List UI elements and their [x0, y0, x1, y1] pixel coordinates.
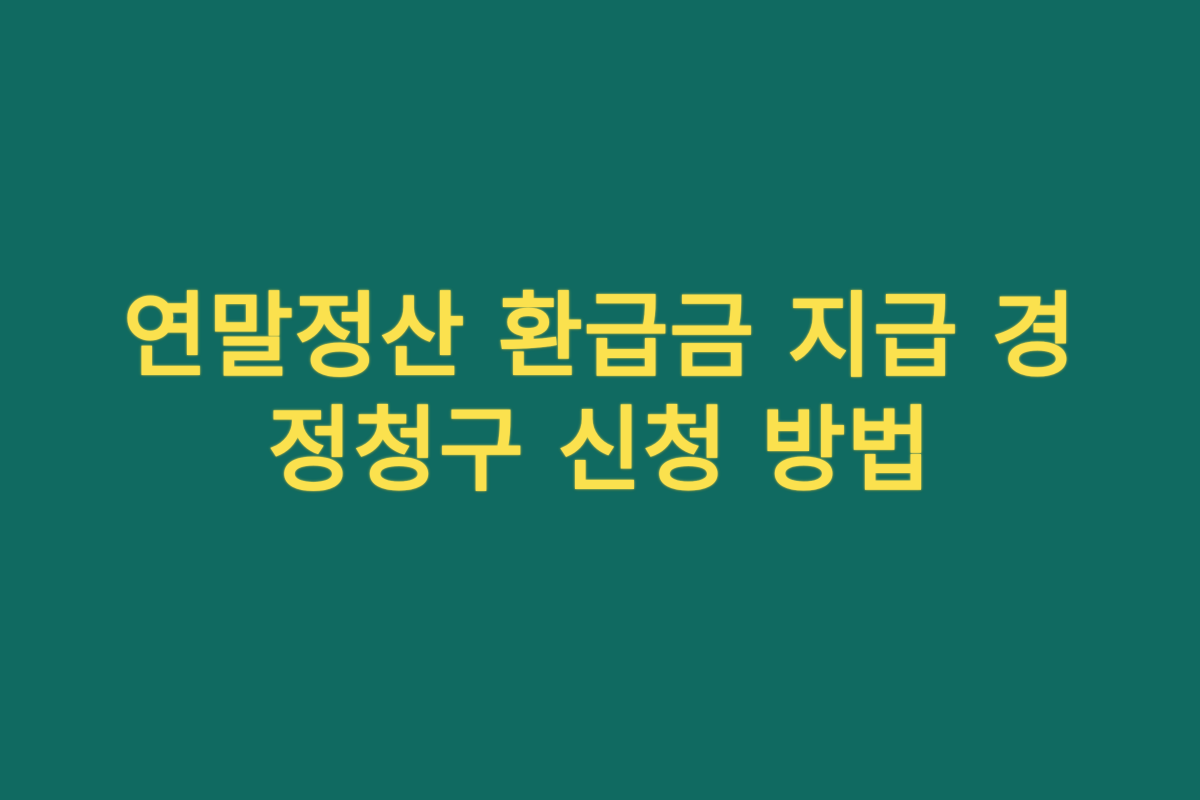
headline-line-2: 정청구 신청 방법 [70, 398, 1130, 506]
headline-line-1: 연말정산 환급금 지급 경 [70, 284, 1130, 392]
thumbnail-canvas: 연말정산 환급금 지급 경 정청구 신청 방법 [0, 0, 1200, 800]
headline-block: 연말정산 환급금 지급 경 정청구 신청 방법 [70, 284, 1130, 515]
